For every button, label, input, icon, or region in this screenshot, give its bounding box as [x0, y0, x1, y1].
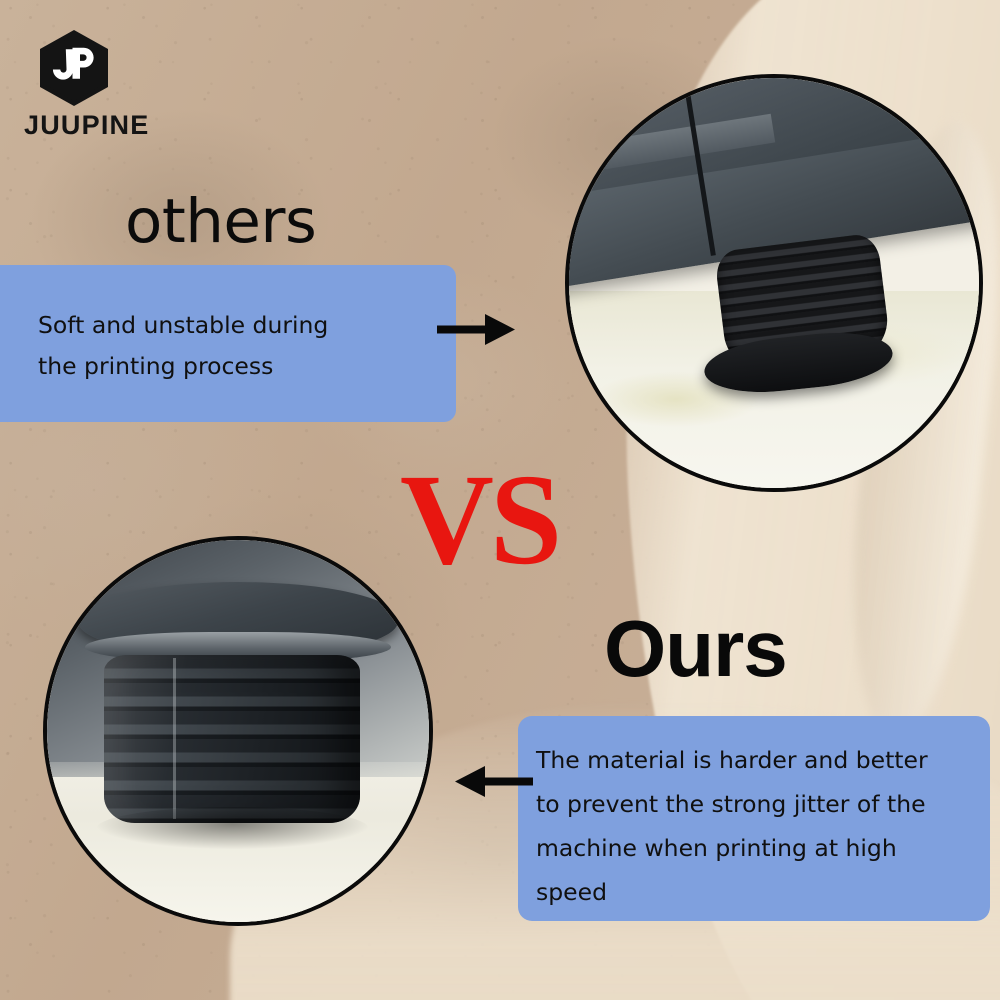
- others-callout-box: Soft and unstable during the printing pr…: [0, 265, 456, 422]
- others-callout-line-2: the printing process: [38, 346, 456, 387]
- infographic-canvas: JUUPINE others VS Ours Soft and unstable…: [0, 0, 1000, 1000]
- foot-mold-seam: [173, 658, 176, 818]
- hexagon-jp-monogram-icon: [37, 28, 111, 108]
- brand-logo: JUUPINE: [24, 28, 214, 141]
- ours-callout-line-4: speed: [536, 870, 976, 914]
- competitor-foot-photo: [565, 74, 983, 492]
- ours-heading: Ours: [604, 603, 787, 695]
- arrow-left-icon: [455, 762, 533, 802]
- arrow-right-icon: [437, 310, 515, 350]
- ours-callout-box: The material is harder and better to pre…: [518, 716, 990, 921]
- our-foot-photo: [43, 536, 433, 926]
- others-callout-line-1: Soft and unstable during: [38, 305, 456, 346]
- brand-name: JUUPINE: [24, 110, 214, 141]
- ours-callout-line-1: The material is harder and better: [536, 738, 976, 782]
- photo-content: [47, 540, 429, 922]
- photo-content: [569, 78, 979, 488]
- others-heading: others: [125, 186, 316, 257]
- ours-callout-line-3: machine when printing at high: [536, 826, 976, 870]
- foot-rib-shading: [104, 655, 360, 823]
- ours-callout-line-2: to prevent the strong jitter of the: [536, 782, 976, 826]
